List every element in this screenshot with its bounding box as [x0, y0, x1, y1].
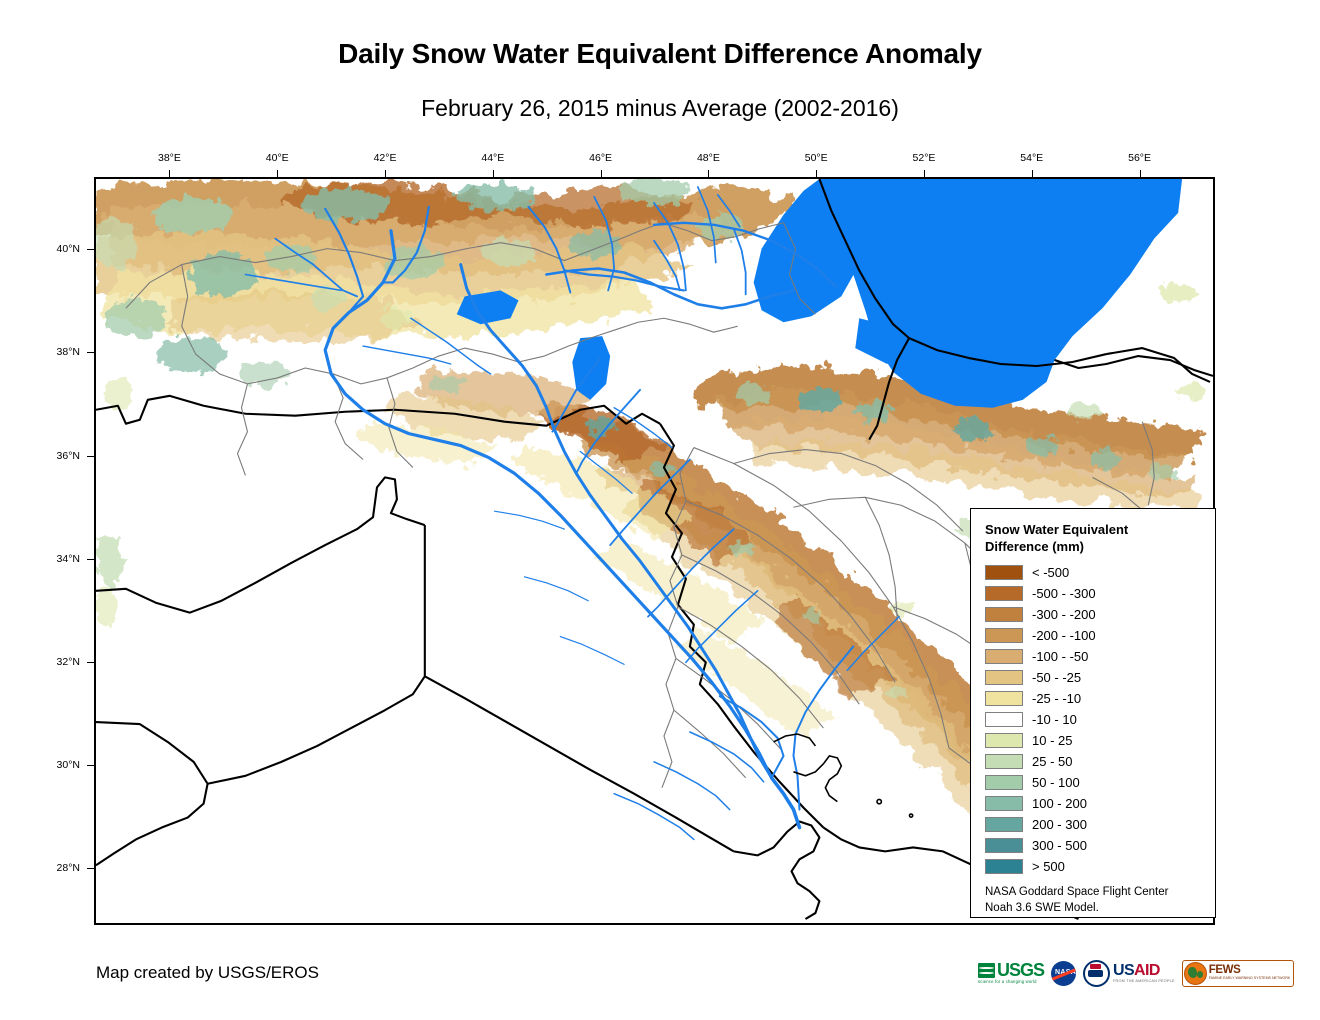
legend-label: 300 - 500: [1032, 838, 1087, 853]
legend-swatch: [985, 607, 1023, 622]
legend-swatch: [985, 775, 1023, 790]
latitude-tick: [87, 249, 94, 250]
page-subtitle: February 26, 2015 minus Average (2002-20…: [0, 95, 1320, 122]
legend-swatch: [985, 754, 1023, 769]
legend-label: -25 - -10: [1032, 691, 1081, 706]
fews-globe-icon: [1184, 962, 1207, 985]
legend-swatch: [985, 586, 1023, 601]
agency-logos: USGS science for a changing world NASA U…: [978, 956, 1294, 990]
legend-swatch: [985, 628, 1023, 643]
longitude-tick: [493, 170, 494, 177]
legend-label: -100 - -50: [1032, 649, 1088, 664]
legend-label: -300 - -200: [1032, 607, 1096, 622]
longitude-tick: [1140, 170, 1141, 177]
legend-label: 50 - 100: [1032, 775, 1080, 790]
longitude-tick-label: 54°E: [1020, 152, 1043, 164]
fews-wordmark: FEWS: [1209, 965, 1291, 977]
latitude-tick: [87, 765, 94, 766]
legend-class-list: < -500-500 - -300-300 - -200-200 - -100-…: [985, 562, 1215, 877]
legend-swatch: [985, 838, 1023, 853]
usgs-waves-icon: [978, 963, 995, 978]
legend-credit: NASA Goddard Space Flight Center Noah 3.…: [985, 885, 1215, 916]
legend-label: < -500: [1032, 565, 1069, 580]
longitude-tick-label: 42°E: [374, 152, 397, 164]
longitude-tick-label: 50°E: [805, 152, 828, 164]
legend-swatch: [985, 733, 1023, 748]
nasa-logo[interactable]: NASA: [1051, 957, 1076, 989]
legend-row: -25 - -10: [985, 688, 1215, 709]
longitude-tick: [385, 170, 386, 177]
longitude-tick: [601, 170, 602, 177]
legend-title-line1: Snow Water Equivalent: [985, 521, 1215, 538]
legend-credit-line1: NASA Goddard Space Flight Center: [985, 885, 1215, 901]
usaid-tagline: FROM THE AMERICAN PEOPLE: [1113, 980, 1175, 984]
usaid-logo[interactable]: USAID FROM THE AMERICAN PEOPLE: [1083, 957, 1175, 989]
latitude-tick: [87, 352, 94, 353]
longitude-tick-label: 44°E: [481, 152, 504, 164]
map-credit: Map created by USGS/EROS: [96, 963, 319, 983]
legend-label: 100 - 200: [1032, 796, 1087, 811]
longitude-tick-label: 38°E: [158, 152, 181, 164]
legend-row: 300 - 500: [985, 835, 1215, 856]
fews-tagline: FAMINE EARLY WARNING SYSTEMS NETWORK: [1209, 977, 1291, 981]
legend-label: 25 - 50: [1032, 754, 1072, 769]
legend-row: 200 - 300: [985, 814, 1215, 835]
latitude-tick-label: 34°N: [57, 553, 80, 565]
latitude-tick-label: 28°N: [57, 862, 80, 874]
longitude-tick: [1032, 170, 1033, 177]
legend-swatch: [985, 649, 1023, 664]
legend-label: 200 - 300: [1032, 817, 1087, 832]
page-title: Daily Snow Water Equivalent Difference A…: [0, 38, 1320, 70]
longitude-tick-label: 48°E: [697, 152, 720, 164]
legend-label: -500 - -300: [1032, 586, 1096, 601]
usgs-tagline: science for a changing world: [978, 980, 1044, 984]
latitude-tick-label: 38°N: [57, 346, 80, 358]
fews-logo[interactable]: FEWS FAMINE EARLY WARNING SYSTEMS NETWOR…: [1182, 957, 1295, 989]
longitude-tick-label: 46°E: [589, 152, 612, 164]
longitude-tick: [277, 170, 278, 177]
legend-swatch: [985, 712, 1023, 727]
legend-row: 10 - 25: [985, 730, 1215, 751]
latitude-tick-label: 32°N: [57, 656, 80, 668]
latitude-tick: [87, 868, 94, 869]
legend-row: > 500: [985, 856, 1215, 877]
usgs-logo[interactable]: USGS science for a changing world: [978, 957, 1044, 989]
longitude-tick: [816, 170, 817, 177]
latitude-tick: [87, 559, 94, 560]
latitude-tick-label: 30°N: [57, 759, 80, 771]
legend-swatch: [985, 691, 1023, 706]
nasa-meatball-icon: NASA: [1051, 961, 1076, 986]
legend-row: 100 - 200: [985, 793, 1215, 814]
longitude-tick: [708, 170, 709, 177]
legend-label: -10 - 10: [1032, 712, 1077, 727]
legend-swatch: [985, 817, 1023, 832]
longitude-tick: [924, 170, 925, 177]
usgs-wordmark: USGS: [997, 961, 1044, 979]
usaid-seal-icon: [1083, 960, 1110, 987]
longitude-tick-label: 56°E: [1128, 152, 1151, 164]
legend-credit-line2: Noah 3.6 SWE Model.: [985, 901, 1215, 917]
longitude-tick-label: 52°E: [913, 152, 936, 164]
latitude-tick: [87, 662, 94, 663]
latitude-tick-label: 40°N: [57, 243, 80, 255]
legend-label: > 500: [1032, 859, 1065, 874]
legend-title-line2: Difference (mm): [985, 538, 1215, 555]
nasa-wordmark: NASA: [1055, 969, 1076, 976]
legend-swatch: [985, 565, 1023, 580]
longitude-tick: [169, 170, 170, 177]
legend-row: -300 - -200: [985, 604, 1215, 625]
legend-swatch: [985, 796, 1023, 811]
latitude-tick: [87, 456, 94, 457]
latitude-tick-label: 36°N: [57, 450, 80, 462]
legend-row: 25 - 50: [985, 751, 1215, 772]
legend-label: -200 - -100: [1032, 628, 1096, 643]
legend-row: -500 - -300: [985, 583, 1215, 604]
legend-label: 10 - 25: [1032, 733, 1072, 748]
legend-label: -50 - -25: [1032, 670, 1081, 685]
legend-swatch: [985, 859, 1023, 874]
map-legend: Snow Water Equivalent Difference (mm) < …: [970, 508, 1216, 918]
legend-title: Snow Water Equivalent Difference (mm): [985, 521, 1215, 555]
legend-row: 50 - 100: [985, 772, 1215, 793]
legend-row: -50 - -25: [985, 667, 1215, 688]
longitude-tick-label: 40°E: [266, 152, 289, 164]
legend-row: < -500: [985, 562, 1215, 583]
legend-row: -100 - -50: [985, 646, 1215, 667]
legend-swatch: [985, 670, 1023, 685]
usaid-wordmark: USAID: [1113, 963, 1175, 979]
legend-row: -10 - 10: [985, 709, 1215, 730]
legend-row: -200 - -100: [985, 625, 1215, 646]
